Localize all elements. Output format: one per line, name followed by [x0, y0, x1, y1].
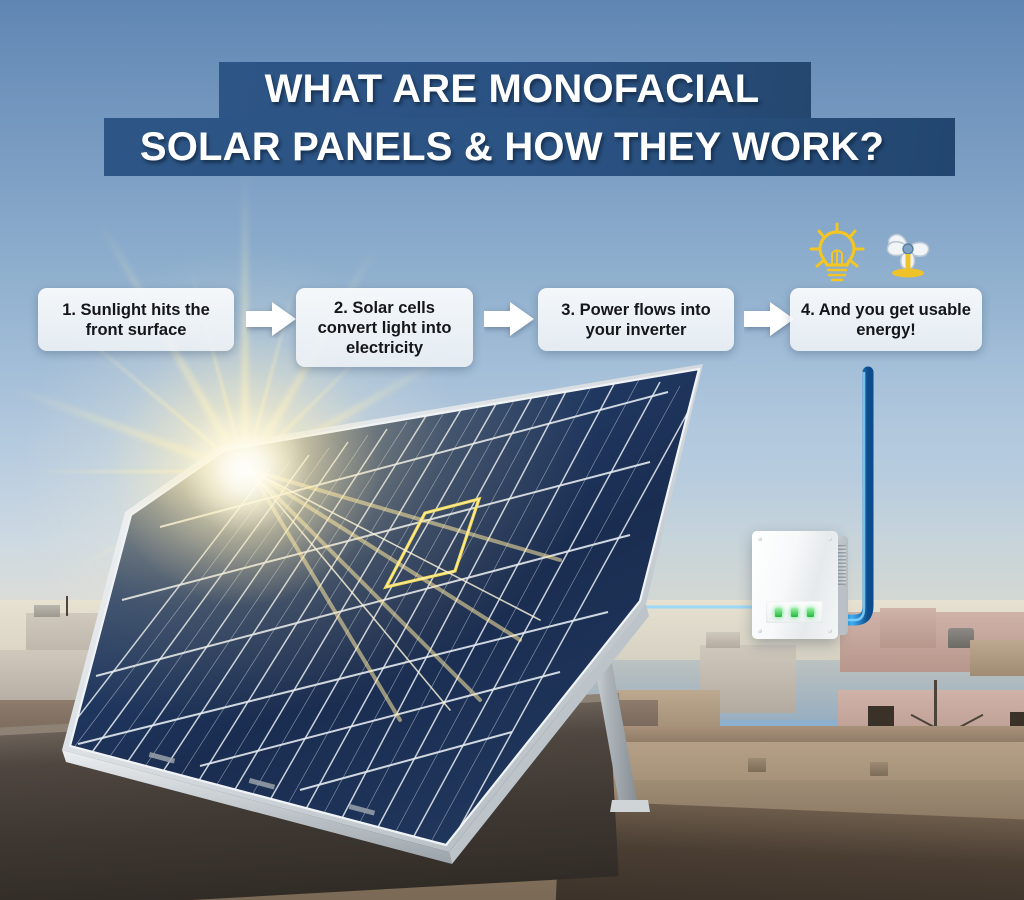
step-box-4[interactable]: 4. And you get usable energy!: [790, 288, 982, 351]
step-box-3[interactable]: 3. Power flows into your inverter: [538, 288, 734, 351]
page-title: WHAT ARE MONOFACIAL SOLAR PANELS & HOW T…: [0, 60, 1024, 176]
title-line-1: WHAT ARE MONOFACIAL: [0, 60, 1024, 118]
infographic-canvas: WHAT ARE MONOFACIAL SOLAR PANELS & HOW T…: [0, 0, 1024, 900]
fan-stem: [906, 254, 911, 270]
step-box-2[interactable]: 2. Solar cells convert light into electr…: [296, 288, 473, 367]
fan-base: [892, 269, 924, 278]
lightbulb-icon: [806, 220, 868, 286]
arrow-right-icon: [484, 300, 536, 338]
fan-hub: [903, 244, 913, 254]
step-box-1[interactable]: 1. Sunlight hits the front surface: [38, 288, 234, 351]
arrow-right-icon: [246, 300, 298, 338]
fan-icon: [876, 222, 940, 286]
arrow-right-icon: [744, 300, 796, 338]
title-line-2: SOLAR PANELS & HOW THEY WORK?: [0, 118, 1024, 176]
